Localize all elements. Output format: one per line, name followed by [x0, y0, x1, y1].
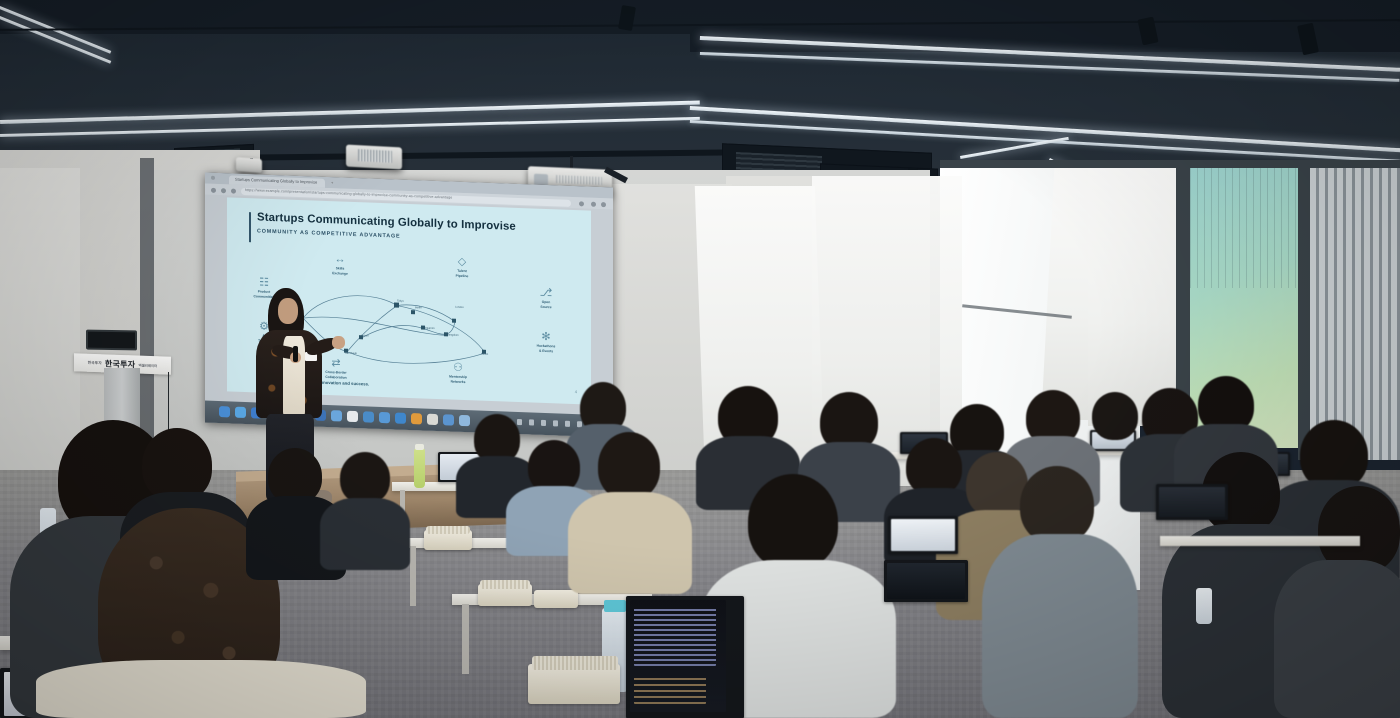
dock-app-files[interactable] — [427, 413, 438, 424]
desk-mid-2-leg — [410, 546, 416, 606]
browser-menu-icon[interactable] — [601, 202, 606, 207]
attendee-body-m3 — [568, 492, 692, 594]
node-label-singapore: Singapore — [423, 327, 435, 330]
attendee-head-b6 — [1092, 392, 1138, 440]
conference-room-photo: Startups Communicating Globally to Impro… — [0, 0, 1400, 718]
wall-divider-left — [140, 158, 154, 458]
laptop-right-1 — [1156, 484, 1228, 520]
attendee-head-m3 — [598, 432, 660, 500]
dock-app-terminal[interactable] — [395, 412, 406, 423]
title-accent-bar — [249, 212, 251, 242]
dock-menu-item-3[interactable] — [529, 419, 534, 425]
dock-app-zoom[interactable] — [379, 411, 390, 422]
browser-extensions-icon[interactable] — [579, 201, 584, 206]
slide-page-number: 4 — [575, 389, 577, 394]
laptop-right-2 — [888, 516, 958, 554]
talent-pipeline-label-2: Pipeline — [435, 273, 489, 279]
dock-menu-item-5[interactable] — [553, 420, 558, 426]
browser-forward-icon[interactable] — [221, 188, 226, 193]
lunchbox-foreground-lid — [532, 656, 618, 670]
node-label-bangalore: Bangalore — [447, 333, 459, 336]
laptop-foreground — [626, 596, 744, 718]
lunchbox-3 — [534, 590, 578, 608]
lunchbox-foreground — [528, 664, 620, 704]
laptop-foreground-code-lines — [634, 606, 716, 666]
node-label-london: London — [455, 306, 464, 309]
browser-new-tab-button[interactable]: + — [331, 180, 333, 185]
bottle-right — [1196, 588, 1212, 624]
slide-subtitle: COMMUNITY AS COMPETITIVE ADVANTAGE — [257, 228, 401, 239]
bottle-1-cap — [415, 444, 424, 450]
browser-back-icon[interactable] — [211, 188, 216, 193]
window-green-glass-stripes — [1190, 168, 1300, 288]
window-mullion-2 — [1298, 160, 1310, 460]
vertical-blinds — [1310, 160, 1400, 460]
browser-profile-icon[interactable] — [591, 201, 596, 206]
projector-left-vent — [358, 149, 392, 163]
bottle-1 — [414, 448, 425, 488]
lunchbox-2-lid — [480, 580, 530, 589]
browser-tab-favicon — [211, 176, 215, 180]
skills-exchange-label-2: Exchange — [313, 270, 367, 276]
mentorship-label-2: Networks — [431, 379, 485, 385]
attendee-head-m7 — [1020, 466, 1094, 544]
attendee-head-m4 — [748, 474, 838, 570]
window-head-rail — [940, 160, 1400, 168]
slide-icon-talent-pipeline: ◇ Talent Pipeline — [435, 255, 489, 279]
dock-app-finder[interactable] — [219, 406, 230, 417]
dock-menu-item-2[interactable] — [517, 418, 522, 424]
skills-exchange-icon: ↔ — [313, 252, 367, 266]
dock-app-photos[interactable] — [331, 410, 342, 421]
desk-right-1 — [1160, 536, 1360, 546]
node-label-austin: Austin — [481, 353, 488, 356]
attendee-body-f5 — [320, 498, 410, 570]
dock-app-slack[interactable] — [363, 411, 374, 422]
dock-menu-item-4[interactable] — [541, 419, 546, 425]
attendee-body-m7 — [982, 534, 1138, 718]
laptop-right-2-screen — [891, 519, 955, 551]
dock-app-settings[interactable] — [443, 414, 454, 425]
ceiling-device-left — [236, 157, 262, 173]
node-label-saopaulo: São Paulo — [345, 352, 357, 355]
projector-mount-right — [570, 156, 573, 168]
laptop-right-3 — [884, 560, 968, 602]
handheld-microphone — [293, 346, 298, 362]
dock-app-keynote[interactable] — [411, 413, 422, 424]
node-label-berlin: Berlin — [415, 306, 422, 309]
dock-app-trash[interactable] — [459, 414, 470, 425]
talent-pipeline-icon: ◇ — [435, 255, 489, 269]
attendee-head-m6 — [966, 452, 1028, 518]
slide-icon-skills-exchange: ↔ Skills Exchange — [313, 252, 367, 276]
attendee-body-f3 — [36, 660, 366, 718]
attendee-head-f2 — [142, 428, 212, 502]
browser-reload-icon[interactable] — [231, 188, 236, 193]
node-label-lisbon: Lisbon — [361, 334, 369, 337]
node-label-tokyo: Tokyo — [397, 300, 404, 303]
lunchbox-1-lid — [426, 526, 470, 534]
dock-app-music[interactable] — [347, 410, 358, 421]
laptop-right-3-screen — [887, 563, 965, 599]
podium-monitor — [86, 330, 137, 351]
bottle-foreground-cap — [604, 600, 626, 612]
dock-app-safari[interactable] — [235, 406, 246, 417]
laptop-right-1-screen — [1159, 487, 1225, 517]
presenter-face — [278, 298, 298, 324]
dock-menu-item-6[interactable] — [565, 420, 570, 426]
network-graph — [285, 283, 535, 372]
desk-mid-3-leg — [462, 604, 469, 674]
laptop-foreground-terminal-lines — [634, 674, 706, 704]
attendee-head-f5 — [340, 452, 390, 504]
window-blind-2 — [1088, 166, 1184, 426]
attendee-body-m9 — [1274, 560, 1400, 718]
podium-sign-brand: 한국투자 — [88, 360, 102, 365]
podium-sign-suffix: 액셀러레이터 — [138, 362, 157, 368]
presenter-hand-right — [332, 336, 345, 349]
